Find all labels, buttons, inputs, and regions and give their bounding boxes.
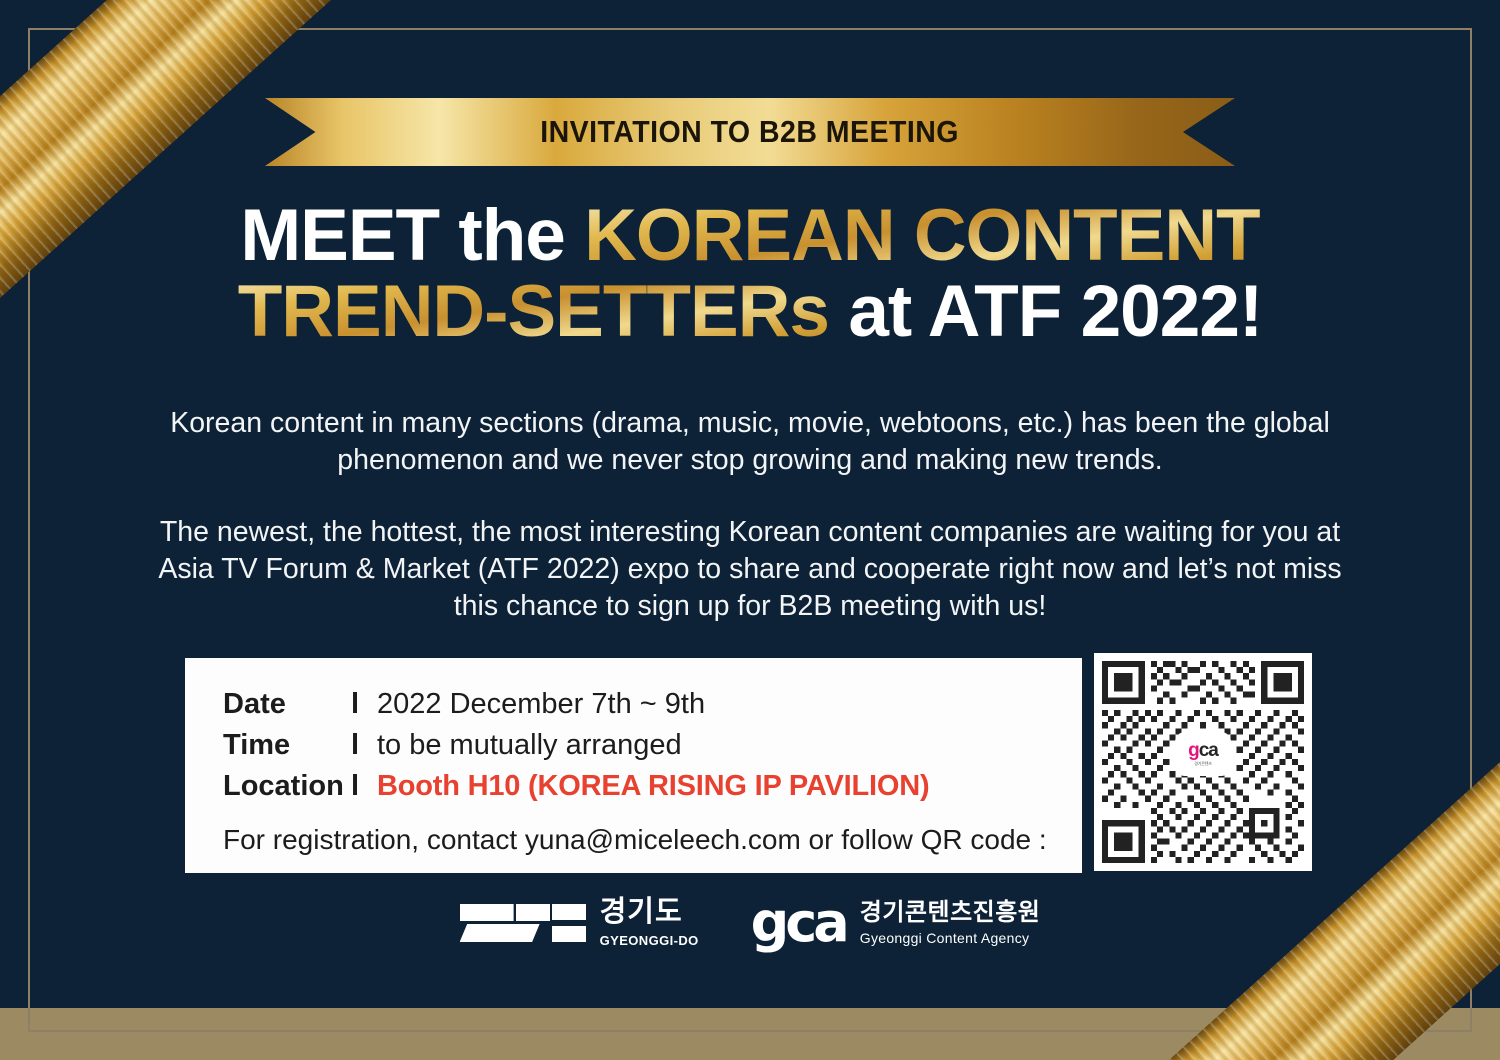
body-paragraph-2: The newest, the hottest, the most intere… <box>150 514 1350 626</box>
page-title: MEET the KOREAN CONTENT TREND-SETTERs at… <box>0 198 1500 350</box>
ribbon-banner-container: INVITATION TO B2B MEETING <box>0 98 1500 166</box>
detail-value-time: to be mutually arranged <box>377 725 682 766</box>
ribbon-banner: INVITATION TO B2B MEETING <box>265 98 1235 166</box>
headline-part-at-atf-2022: at ATF 2022! <box>829 271 1262 352</box>
registration-note: For registration, contact yuna@miceleech… <box>223 824 1082 856</box>
gca-logo: gca 경기콘텐츠진흥원 Gyeonggi Content Agency <box>751 901 1041 946</box>
gca-korean: 경기콘텐츠진흥원 <box>860 901 1041 925</box>
gyeonggi-do-korean: 경기도 <box>600 898 683 927</box>
gyeonggi-do-logo: 경기도 GYEONGGI-DO <box>460 898 699 948</box>
qr-logo-sub: 경기콘텐츠 <box>1194 761 1211 767</box>
detail-value-date: 2022 December 7th ~ 9th <box>377 684 705 725</box>
gca-english: Gyeonggi Content Agency <box>860 930 1030 946</box>
detail-value-location: Booth H10 (KOREA RISING IP PAVILION) <box>377 766 929 807</box>
detail-separator-icon: l <box>351 684 377 725</box>
gca-text: 경기콘텐츠진흥원 Gyeonggi Content Agency <box>860 901 1041 946</box>
gca-wordmark-icon: gca <box>751 901 846 945</box>
qr-center-logo: gca 경기콘텐츠 <box>1175 732 1231 776</box>
detail-label-location: Location <box>223 766 351 807</box>
detail-label-date: Date <box>223 684 351 725</box>
qr-center-logo-wordmark: gca <box>1188 741 1218 760</box>
qr-code[interactable]: gca 경기콘텐츠 <box>1094 653 1312 871</box>
event-details-card: Date l 2022 December 7th ~ 9th Time l to… <box>185 658 1082 873</box>
headline-part-korean-content: KOREAN CONTENT <box>584 195 1259 276</box>
footer-logos: 경기도 GYEONGGI-DO gca 경기콘텐츠진흥원 Gyeonggi Co… <box>0 898 1500 948</box>
detail-row-date: Date l 2022 December 7th ~ 9th <box>223 684 1082 725</box>
headline-line-2: TREND-SETTERs at ATF 2022! <box>0 274 1500 350</box>
headline-line-1: MEET the KOREAN CONTENT <box>0 198 1500 274</box>
headline-part-trend-setters: TREND-SETTERs <box>238 271 829 352</box>
headline-part-meet-the: MEET the <box>240 195 584 276</box>
detail-row-time: Time l to be mutually arranged <box>223 725 1082 766</box>
qr-logo-ca: ca <box>1199 740 1218 761</box>
invitation-poster: INVITATION TO B2B MEETING MEET the KOREA… <box>0 0 1500 1060</box>
qr-logo-g: g <box>1188 740 1199 761</box>
qr-code-inner: gca 경기콘텐츠 <box>1102 661 1304 863</box>
ribbon-label: INVITATION TO B2B MEETING <box>541 114 960 150</box>
body-copy: Korean content in many sections (drama, … <box>150 405 1350 626</box>
gyeonggi-do-mark-icon <box>460 900 586 946</box>
detail-separator-icon: l <box>351 725 377 766</box>
gyeonggi-do-text: 경기도 GYEONGGI-DO <box>600 898 699 948</box>
detail-separator-icon: l <box>351 766 377 807</box>
detail-label-time: Time <box>223 725 351 766</box>
event-details-rows: Date l 2022 December 7th ~ 9th Time l to… <box>223 684 1082 808</box>
body-paragraph-1: Korean content in many sections (drama, … <box>150 405 1350 480</box>
gyeonggi-do-english: GYEONGGI-DO <box>600 933 699 948</box>
detail-row-location: Location l Booth H10 (KOREA RISING IP PA… <box>223 766 1082 807</box>
